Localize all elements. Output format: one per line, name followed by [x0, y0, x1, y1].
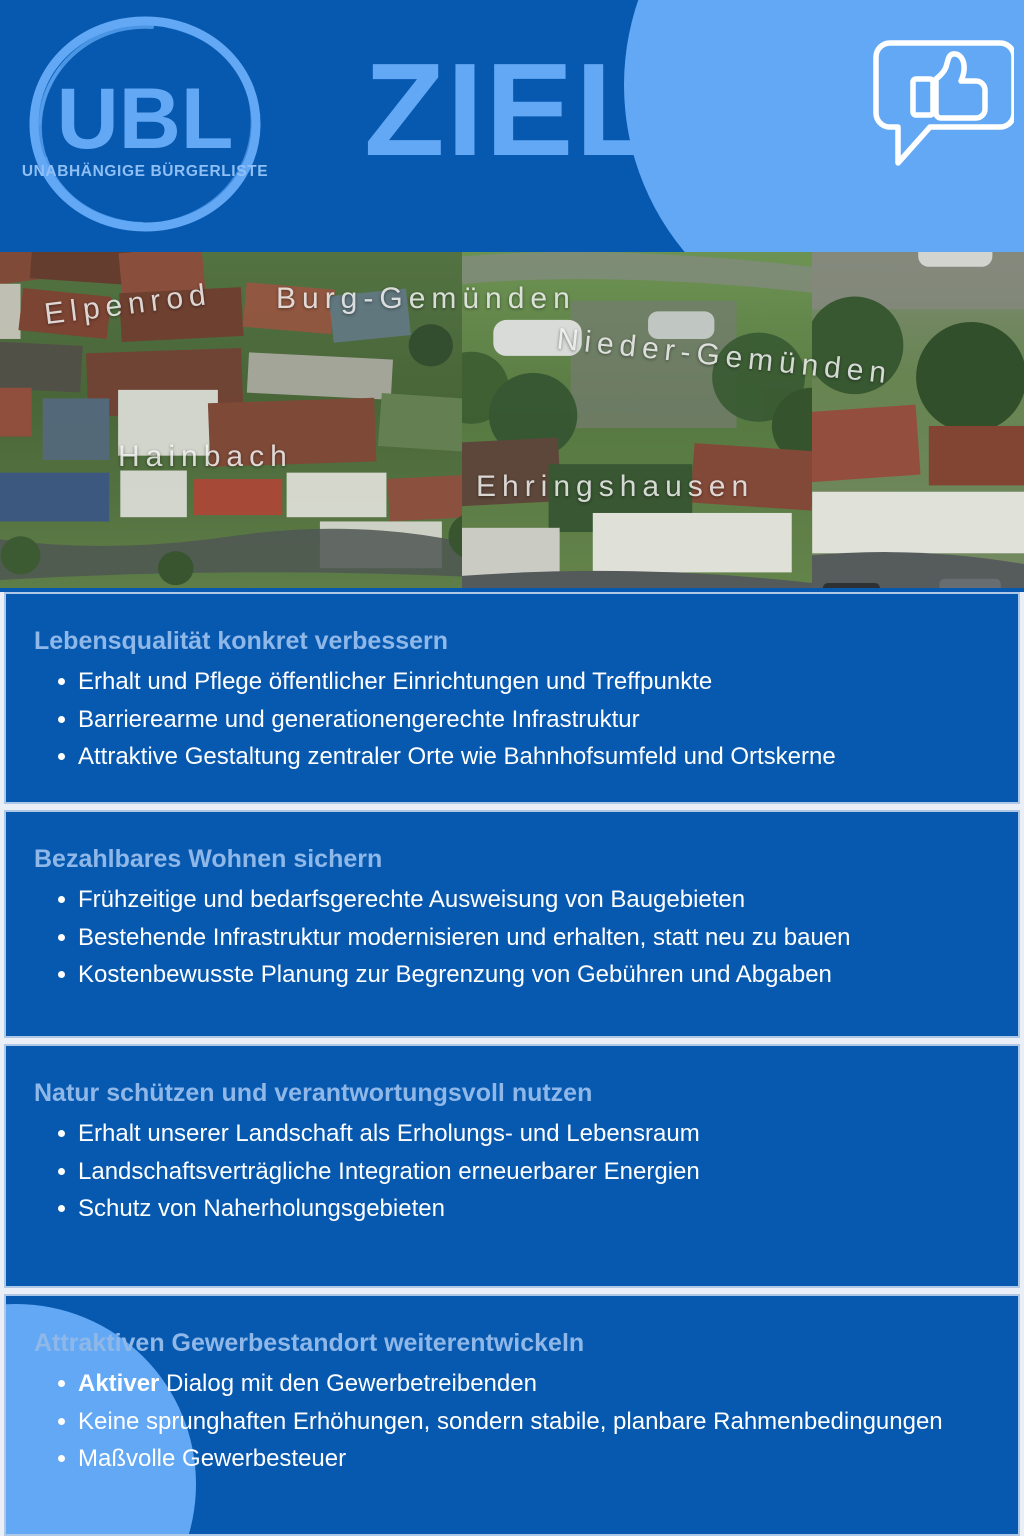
goal-bullet-bold-prefix: Aktiver — [78, 1370, 159, 1397]
photo-tile-right — [812, 252, 1024, 588]
goal-card-gewerbestandort: Attraktiven Gewerbestandort weiterentwic… — [4, 1294, 1020, 1536]
page-title: ZIELE — [364, 44, 748, 176]
place-label-burg-gemuenden: Burg-Gemünden — [276, 282, 576, 316]
goal-card-lebensqualitaet: Lebensqualität konkret verbessern Erhalt… — [4, 592, 1020, 804]
goal-bullet: Landschaftsverträgliche Integration erne… — [52, 1154, 990, 1190]
goal-bullet: Bestehende Infrastruktur modernisieren u… — [52, 920, 990, 956]
goal-bullet-list: Frühzeitige und bedarfsgerechte Ausweisu… — [34, 882, 990, 993]
logo-acronym: UBL — [57, 71, 234, 167]
goal-heading: Lebensqualität konkret verbessern — [34, 626, 990, 656]
goal-card-bezahlbares-wohnen: Bezahlbares Wohnen sichern Frühzeitige u… — [4, 810, 1020, 1038]
place-label-ehringshausen: Ehringshausen — [476, 470, 754, 504]
goal-bullet-list: Aktiver Dialog mit den Gewerbetreibenden… — [34, 1366, 990, 1477]
goal-heading: Natur schützen und verantwortungsvoll nu… — [34, 1078, 990, 1108]
goal-bullet: Keine sprunghaften Erhöhungen, sondern s… — [52, 1404, 990, 1440]
goal-bullet: Barrierearme und generationengerechte In… — [52, 702, 990, 738]
place-label-hainbach: Hainbach — [118, 440, 293, 474]
goal-card-natur-schuetzen: Natur schützen und verantwortungsvoll nu… — [4, 1044, 1020, 1288]
goal-bullet-list: Erhalt unserer Landschaft als Erholungs-… — [34, 1116, 990, 1227]
goal-bullet-list: Erhalt und Pflege öffentlicher Einrichtu… — [34, 664, 990, 775]
goal-bullet: Attraktive Gestaltung zentraler Orte wie… — [52, 739, 990, 775]
poster: UBL UNABHÄNGIGE BÜRGERLISTE ZIELE — [0, 0, 1024, 1536]
poster-header: UBL UNABHÄNGIGE BÜRGERLISTE ZIELE — [0, 0, 1024, 252]
logo-subtitle: UNABHÄNGIGE BÜRGERLISTE — [22, 163, 268, 180]
goal-bullet: Frühzeitige und bedarfsgerechte Ausweisu… — [52, 882, 990, 918]
photo-banner: Elpenrod Burg-Gemünden Nieder-Gemünden H… — [0, 252, 1024, 588]
goal-bullet: Erhalt und Pflege öffentlicher Einrichtu… — [52, 664, 990, 700]
ubl-logo: UBL UNABHÄNGIGE BÜRGERLISTE — [16, 8, 274, 240]
goal-bullet: Schutz von Naherholungsgebieten — [52, 1191, 990, 1227]
goal-bullet: Maßvolle Gewerbesteuer — [52, 1441, 990, 1477]
goal-bullet-rest: Dialog mit den Gewerbetreibenden — [159, 1370, 537, 1397]
goal-heading: Attraktiven Gewerbestandort weiterentwic… — [34, 1328, 990, 1358]
goal-bullet: Kostenbewusste Planung zur Begrenzung vo… — [52, 957, 990, 993]
goal-bullet: Erhalt unserer Landschaft als Erholungs-… — [52, 1116, 990, 1152]
thumbs-up-speech-bubble-icon — [868, 35, 1014, 175]
goals-list: Lebensqualität konkret verbessern Erhalt… — [0, 592, 1024, 1536]
goal-heading: Bezahlbares Wohnen sichern — [34, 844, 990, 874]
goal-bullet: Aktiver Dialog mit den Gewerbetreibenden — [52, 1366, 990, 1402]
